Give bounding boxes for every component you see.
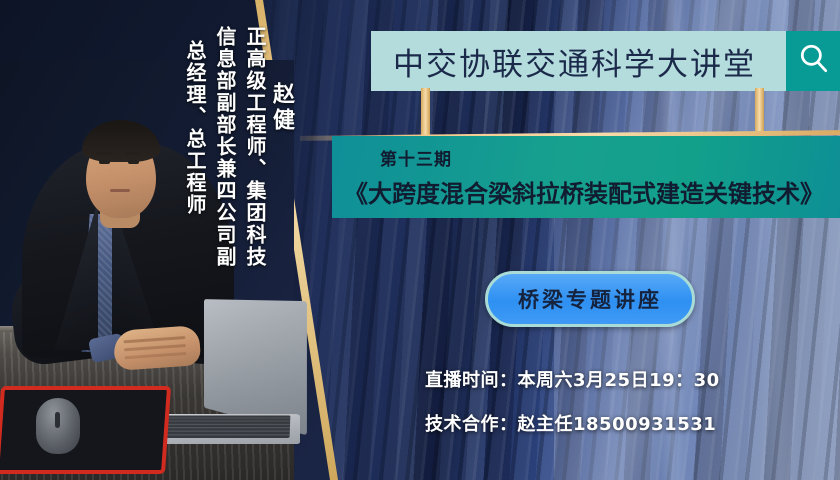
photo-eyebrow-right [126, 152, 140, 155]
header-bar: 中交协联交通科学大讲堂 [371, 31, 840, 91]
episode-number: 第十三期 [332, 145, 840, 170]
search-icon [797, 42, 831, 80]
speaker-title-line-1: 正高级工程师、集团科技 [241, 26, 270, 268]
connector-bar-left [421, 88, 430, 136]
search-button[interactable] [786, 31, 840, 91]
photo-eyebrow-left [97, 152, 111, 155]
speaker-title-line-3: 总经理、总工程师 [181, 40, 210, 216]
photo-mouse-pad [0, 386, 171, 474]
program-title: 中交协联交通科学大讲堂 [371, 31, 786, 91]
connector-bar-right [755, 88, 764, 136]
session-title: 《大跨度混合梁斜拉桥装配式建造关键技术》 [332, 174, 840, 209]
photo-mouth [110, 189, 130, 192]
live-stream-promo-poster: 赵健 正高级工程师、集团科技 信息部副部长兼四公司副 总经理、总工程师 中交协联… [0, 0, 840, 480]
photo-eye-right [128, 160, 139, 164]
topic-badge-button[interactable]: 桥梁专题讲座 [485, 271, 695, 327]
broadcast-time-text: 直播时间：本周六3月25日19：30 [425, 366, 720, 392]
photo-clasped-hands [113, 325, 202, 371]
session-title-banner: 第十三期 《大跨度混合梁斜拉桥装配式建造关键技术》 [332, 136, 840, 218]
contact-info-text: 技术合作：赵主任18500931531 [425, 410, 716, 436]
photo-eye-left [99, 160, 110, 164]
speaker-title-line-2: 信息部副部长兼四公司副 [211, 26, 240, 268]
photo-mouse [36, 398, 80, 454]
